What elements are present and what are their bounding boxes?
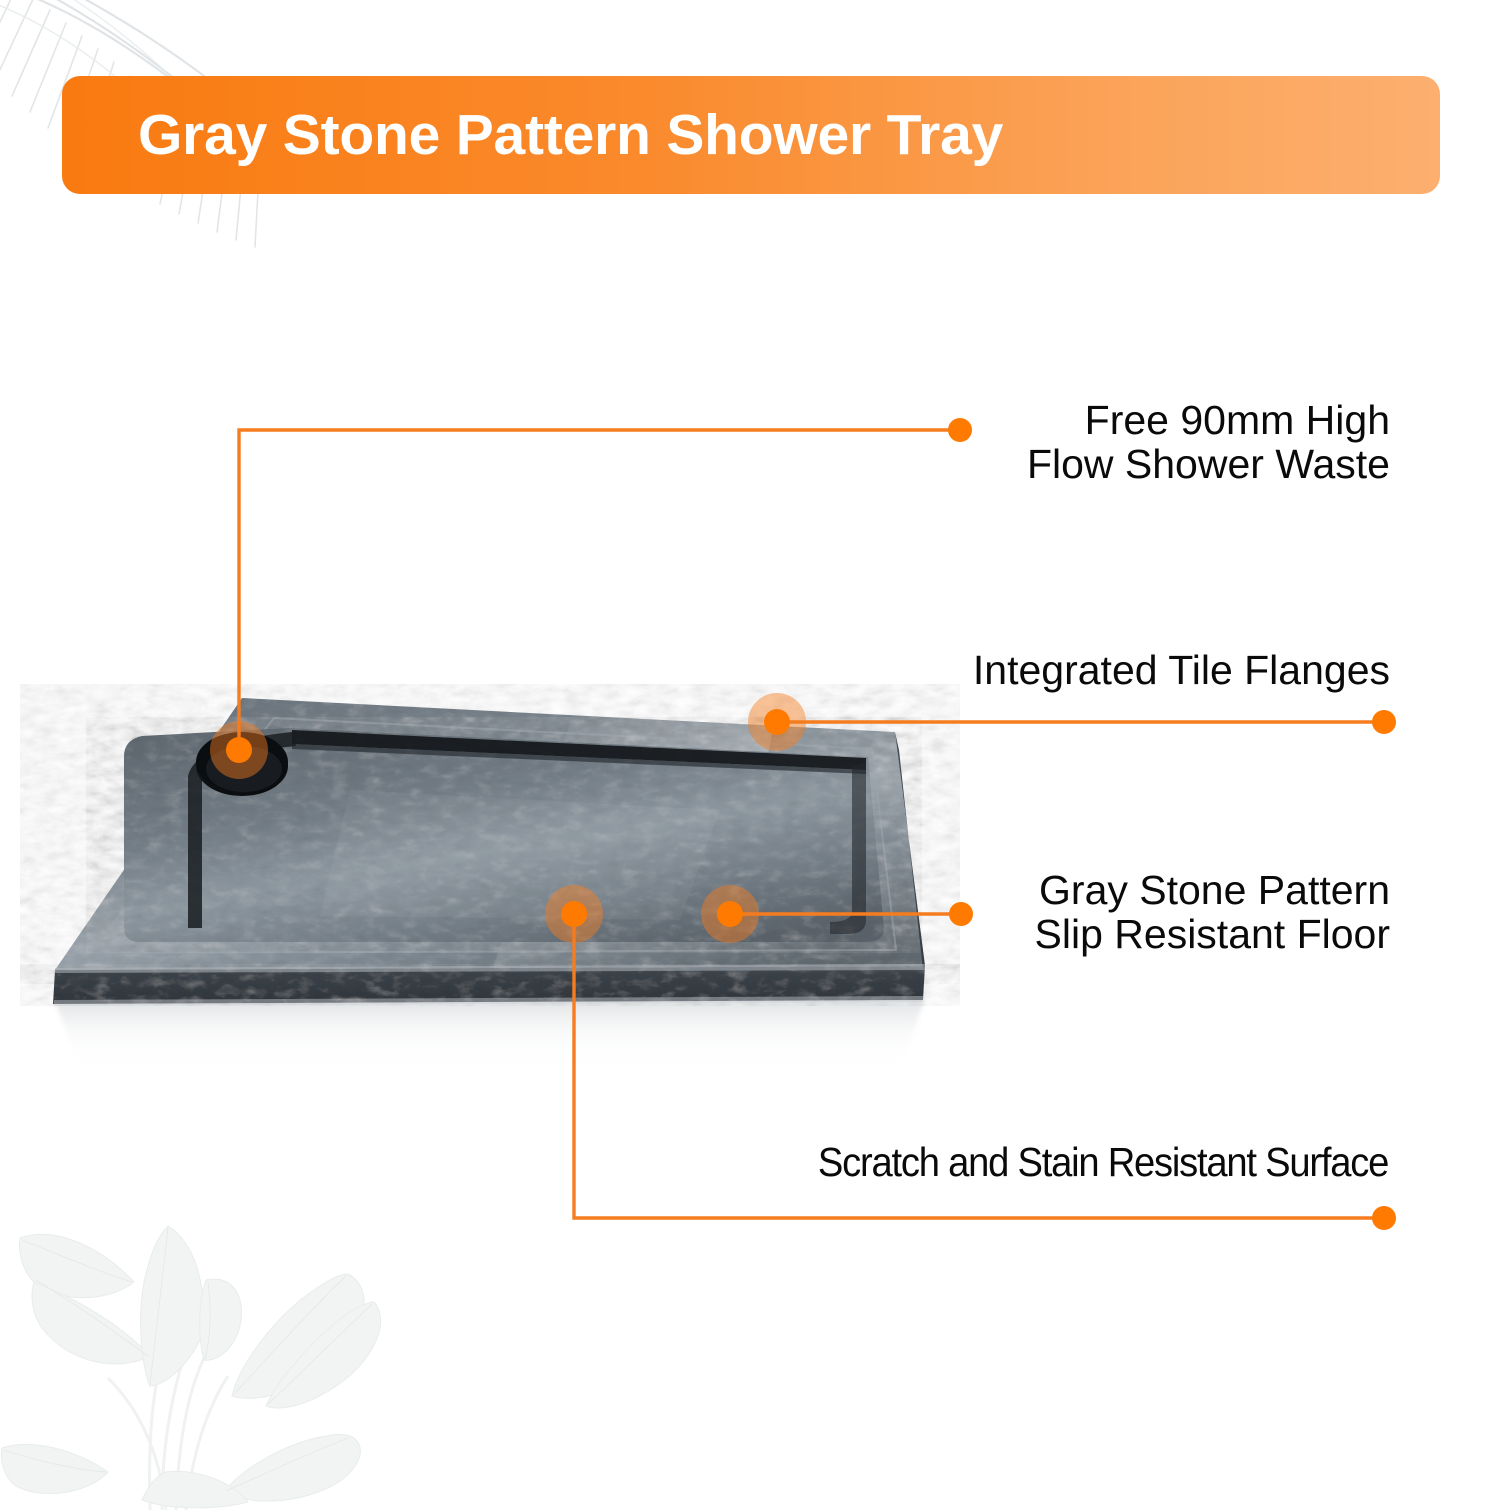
endpoint-dot-icon-scratch-stain	[1372, 1206, 1396, 1230]
callout-label-scratch-stain: Scratch and Stain Resistant Surface	[818, 1140, 1388, 1184]
callout-label-free-waste: Free 90mm High Flow Shower Waste	[1027, 398, 1390, 487]
page-title: Gray Stone Pattern Shower Tray	[62, 107, 1003, 164]
page-title-banner: Gray Stone Pattern Shower Tray	[62, 76, 1440, 194]
endpoint-dot-icon-free-waste	[948, 418, 972, 442]
tropical-plant-watermark	[0, 1210, 420, 1510]
endpoint-dot-icon-tile-flanges	[1372, 710, 1396, 734]
callout-label-slip-resistant-floor: Gray Stone Pattern Slip Resistant Floor	[1035, 868, 1390, 957]
product-shower-tray-image	[20, 670, 960, 1110]
callout-label-tile-flanges: Integrated Tile Flanges	[973, 648, 1390, 692]
